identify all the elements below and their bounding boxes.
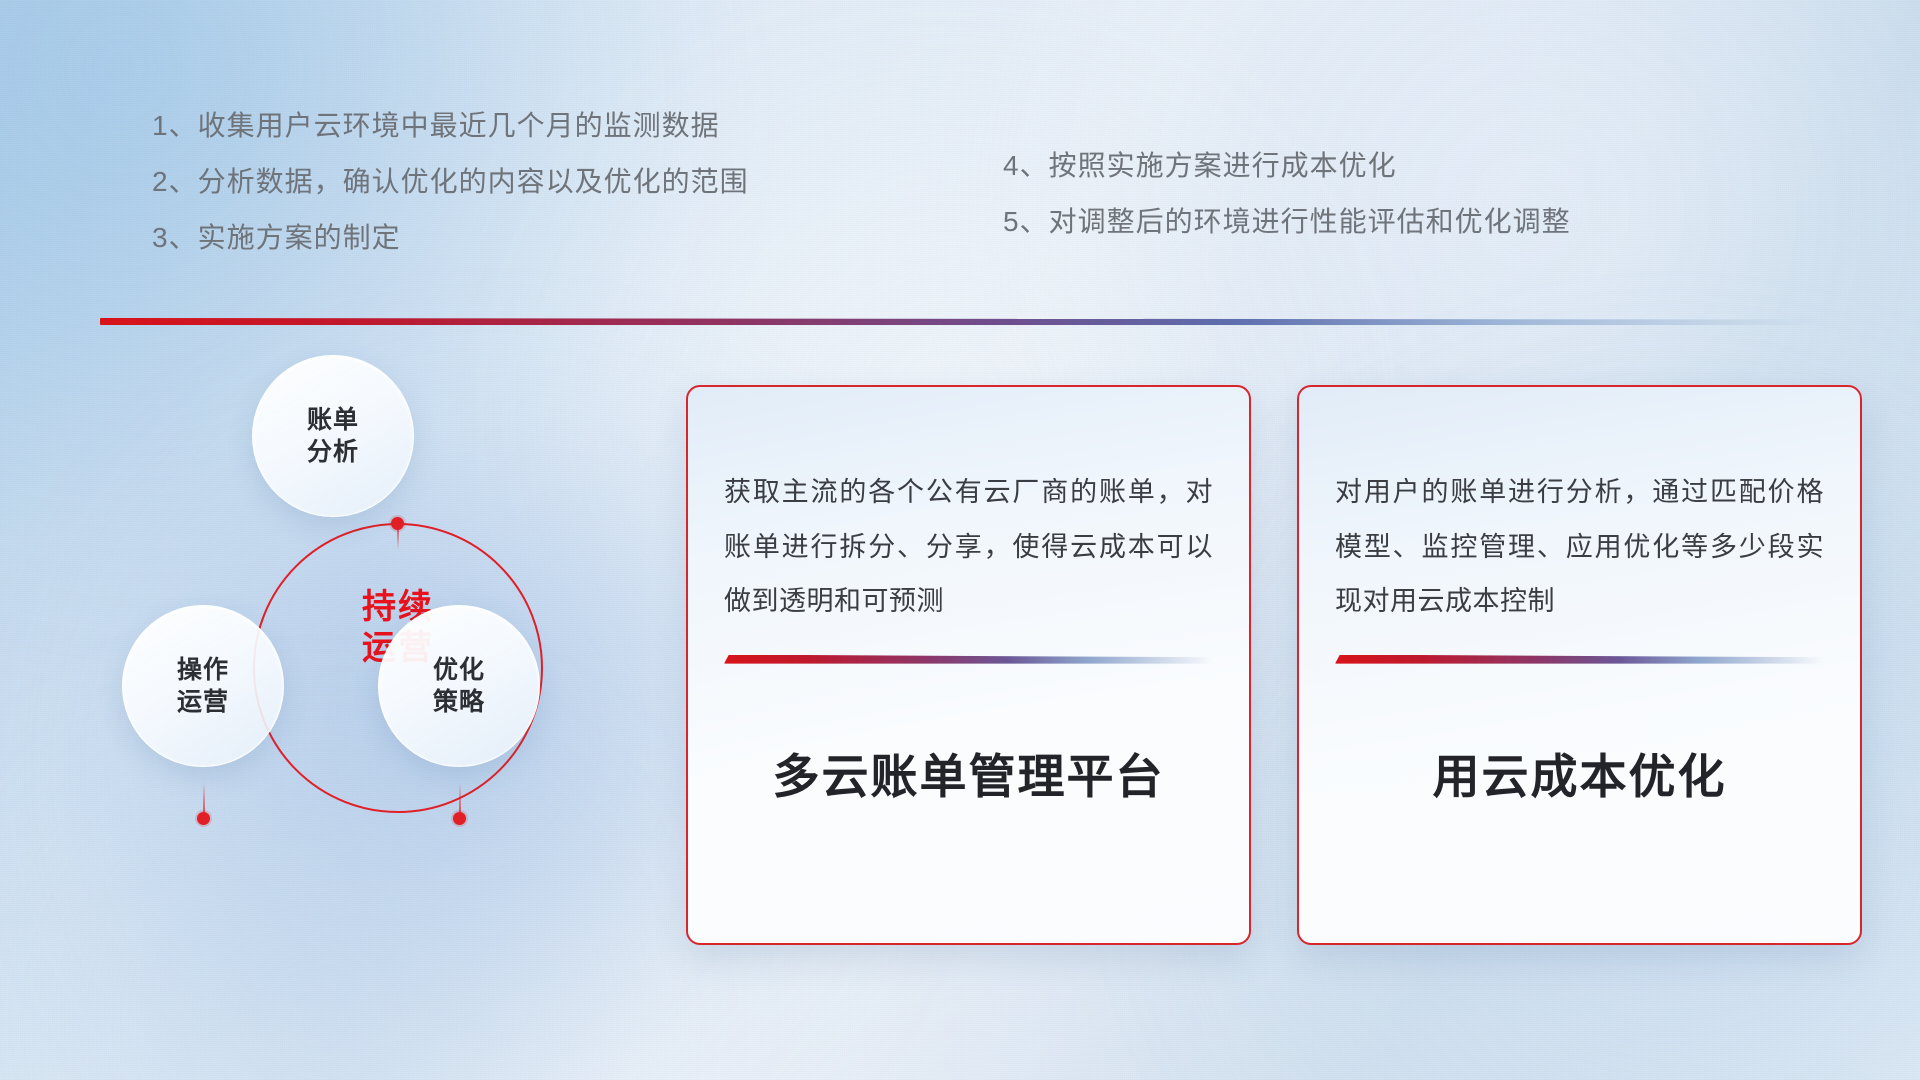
diagram-bubble-optimization-strategy[interactable]: 优化 策略: [378, 605, 540, 767]
bubble-label: 账单 分析: [307, 404, 359, 468]
card-description: 对用户的账单进行分析，通过匹配价格模型、监控管理、应用优化等多少段实现对用云成本…: [1335, 465, 1824, 629]
card-description: 获取主流的各个公有云厂商的账单，对账单进行拆分、分享，使得云成本可以做到透明和可…: [724, 465, 1213, 629]
card-accent-rule: [1335, 655, 1824, 664]
card-content: 对用户的账单进行分析，通过匹配价格模型、监控管理、应用优化等多少段实现对用云成本…: [1299, 387, 1860, 943]
step-item: 5、对调整后的环境进行性能评估和优化调整: [1003, 208, 1571, 236]
connector-dot-top: [391, 517, 404, 530]
card-title: 用云成本优化: [1335, 738, 1824, 807]
card-content: 获取主流的各个公有云厂商的账单，对账单进行拆分、分享，使得云成本可以做到透明和可…: [688, 387, 1249, 943]
card-accent-rule: [724, 655, 1213, 664]
connector-dot-left: [197, 812, 210, 825]
step-item: 4、按照实施方案进行成本优化: [1003, 152, 1571, 180]
bubble-label: 操作 运营: [177, 654, 229, 718]
connector-dot-right: [453, 812, 466, 825]
steps-list-left: 1、收集用户云环境中最近几个月的监测数据 2、分析数据，确认优化的内容以及优化的…: [152, 112, 749, 280]
diagram-bubble-bill-analysis[interactable]: 账单 分析: [252, 355, 414, 517]
bubble-label: 优化 策略: [433, 654, 485, 718]
continuous-operation-diagram: 持续 运营 账单 分析 操作 运营 优化 策略: [100, 355, 620, 935]
connector-stem-right: [459, 783, 461, 813]
step-item: 2、分析数据，确认优化的内容以及优化的范围: [152, 168, 749, 196]
slide-canvas: 1、收集用户云环境中最近几个月的监测数据 2、分析数据，确认优化的内容以及优化的…: [0, 0, 1920, 1080]
diagram-bubble-operations[interactable]: 操作 运营: [122, 605, 284, 767]
connector-stem-top: [397, 527, 399, 549]
feature-card-multi-cloud-billing[interactable]: 获取主流的各个公有云厂商的账单，对账单进行拆分、分享，使得云成本可以做到透明和可…: [686, 385, 1251, 945]
feature-card-cloud-cost-optimization[interactable]: 对用户的账单进行分析，通过匹配价格模型、监控管理、应用优化等多少段实现对用云成本…: [1297, 385, 1862, 945]
steps-list-right: 4、按照实施方案进行成本优化 5、对调整后的环境进行性能评估和优化调整: [1003, 152, 1571, 264]
card-title: 多云账单管理平台: [724, 738, 1213, 807]
step-item: 1、收集用户云环境中最近几个月的监测数据: [152, 112, 749, 140]
step-item: 3、实施方案的制定: [152, 224, 749, 252]
connector-stem-left: [203, 783, 205, 813]
